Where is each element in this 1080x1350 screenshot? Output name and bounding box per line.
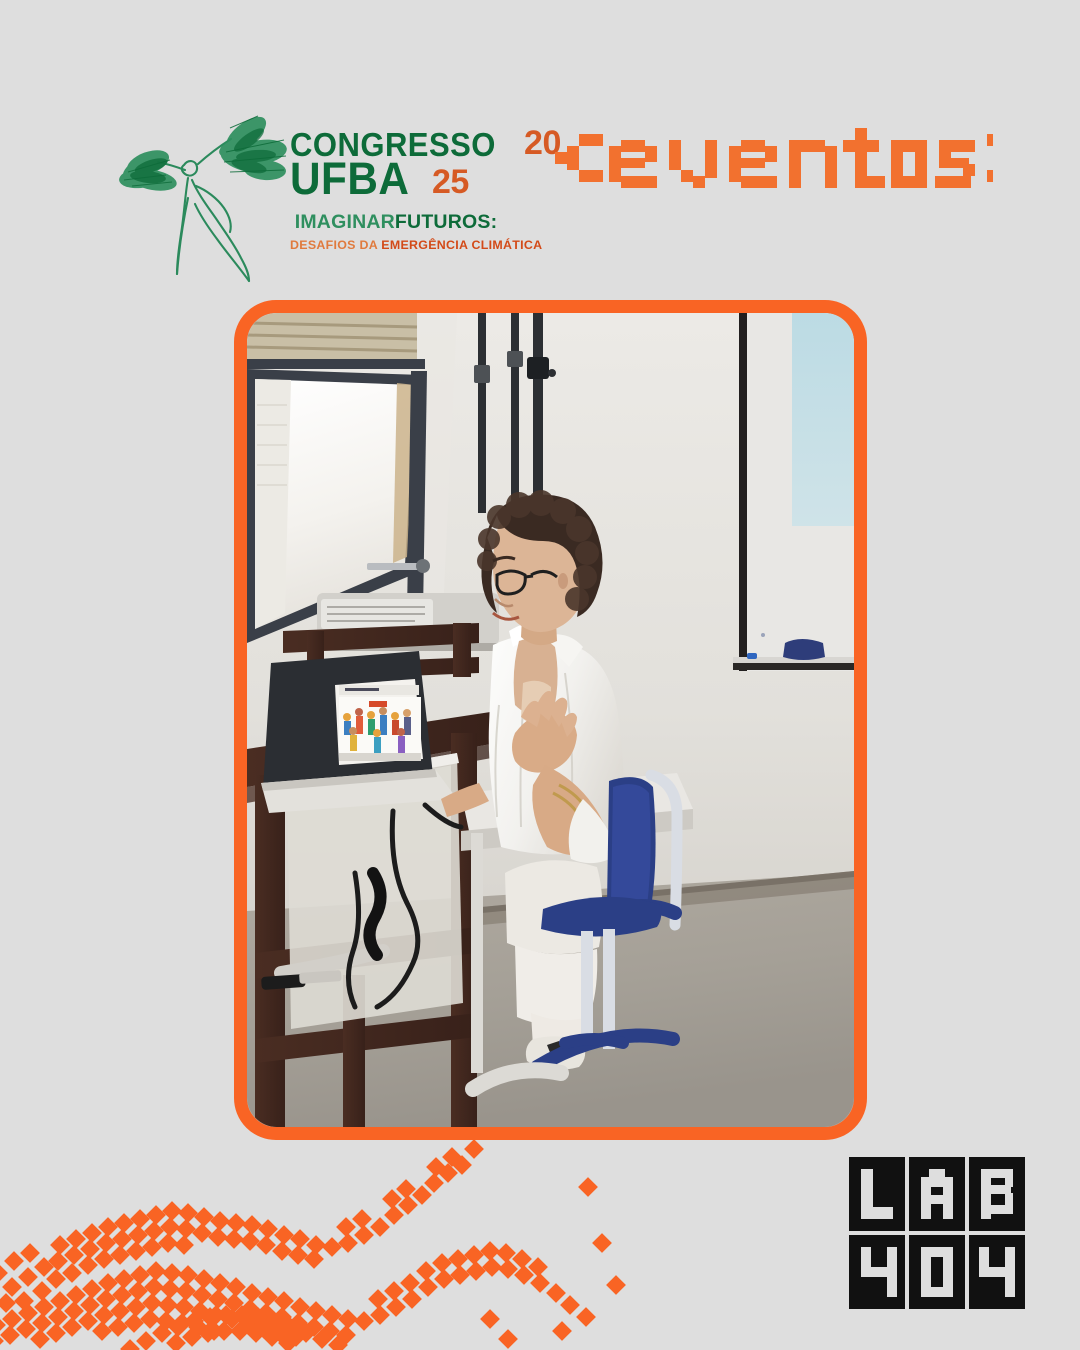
event-photo-card xyxy=(234,300,867,1140)
brand-year-bottom: 25 xyxy=(432,169,469,196)
tagline-futuros: FUTUROS: xyxy=(395,211,497,233)
pixel-wave-pattern xyxy=(0,1135,630,1350)
brand-line-ufba: UFBA xyxy=(290,160,409,198)
brand-year-bottom-wrap: 25 xyxy=(425,169,469,196)
leaf-person-icon xyxy=(118,108,288,283)
tagline-desafios: DESAFIOS DA xyxy=(290,238,381,252)
event-photo xyxy=(247,313,854,1127)
poster-canvas: CONGRESSO 20 UFBA 25 IMAGINARFUTUROS: DE… xyxy=(0,0,1080,1350)
congresso-ufba-logo: CONGRESSO 20 UFBA 25 IMAGINARFUTUROS: DE… xyxy=(118,108,498,288)
lab404-logo xyxy=(845,1155,1035,1315)
tagline-line-2: DESAFIOS DA EMERGÊNCIA CLIMÁTICA xyxy=(290,238,502,252)
eventos-wordmark xyxy=(543,124,993,198)
tagline-imaginar: IMAGINAR xyxy=(295,211,395,233)
tagline-emergencia: EMERGÊNCIA CLIMÁTICA xyxy=(381,238,542,252)
tagline-line-1: IMAGINARFUTUROS: xyxy=(290,211,502,234)
brand-wordmark: CONGRESSO 20 UFBA 25 IMAGINARFUTUROS: DE… xyxy=(290,108,500,252)
brand-tagline: IMAGINARFUTUROS: DESAFIOS DA EMERGÊNCIA … xyxy=(290,211,502,252)
